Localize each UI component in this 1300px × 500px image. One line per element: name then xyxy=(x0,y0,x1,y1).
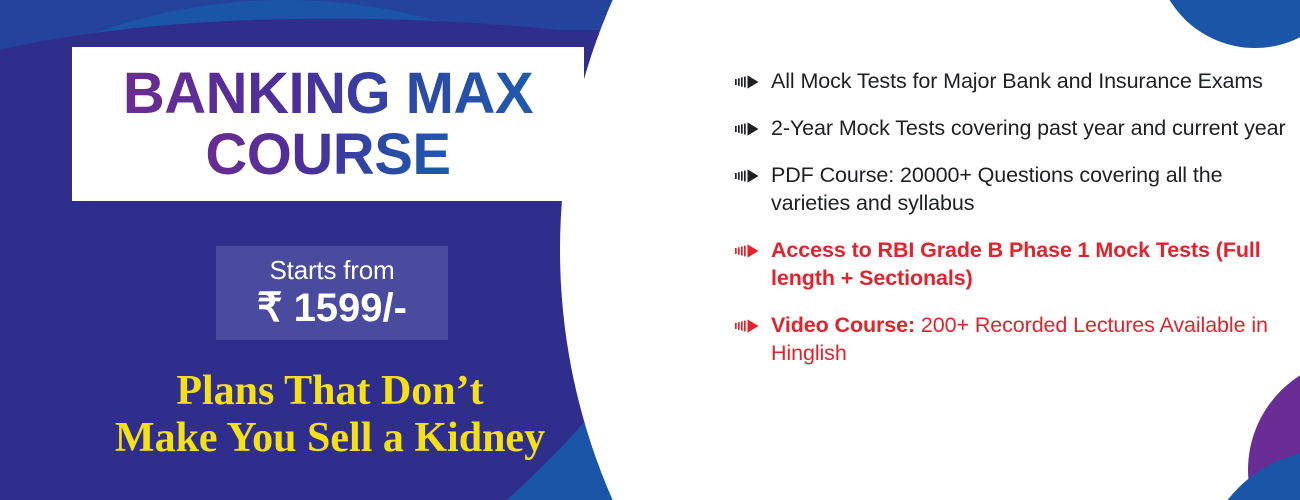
feature-item: PDF Course: 20000+ Questions covering al… xyxy=(735,162,1290,218)
feature-text-lead: Video Course: xyxy=(771,313,915,337)
left-content-column: BANKING MAX COURSE Starts from ₹ 1599/- … xyxy=(0,0,660,500)
promotional-banner: BANKING MAX COURSE Starts from ₹ 1599/- … xyxy=(0,0,1300,500)
feature-text: PDF Course: 20000+ Questions covering al… xyxy=(771,162,1290,218)
price-card: Starts from ₹ 1599/- xyxy=(216,246,448,340)
feature-text: All Mock Tests for Major Bank and Insura… xyxy=(771,68,1263,96)
course-title-line-2: COURSE xyxy=(205,125,450,184)
motion-arrow-icon xyxy=(735,168,761,184)
tagline-line-1: Plans That Don’t xyxy=(0,368,660,415)
tagline-line-2: Make You Sell a Kidney xyxy=(0,415,660,462)
feature-item: 2-Year Mock Tests covering past year and… xyxy=(735,115,1290,143)
feature-list: All Mock Tests for Major Bank and Insura… xyxy=(735,68,1290,368)
price-label: Starts from xyxy=(270,257,395,284)
price-value: ₹ 1599/- xyxy=(257,287,407,329)
motion-arrow-icon xyxy=(735,318,761,334)
feature-item: All Mock Tests for Major Bank and Insura… xyxy=(735,68,1290,96)
feature-item-highlighted: Access to RBI Grade B Phase 1 Mock Tests… xyxy=(735,237,1290,293)
tagline: Plans That Don’t Make You Sell a Kidney xyxy=(0,368,660,462)
feature-text: Video Course: 200+ Recorded Lectures Ava… xyxy=(771,312,1290,368)
feature-item-highlighted: Video Course: 200+ Recorded Lectures Ava… xyxy=(735,312,1290,368)
feature-text: 2-Year Mock Tests covering past year and… xyxy=(771,115,1286,143)
motion-arrow-icon xyxy=(735,243,761,259)
feature-text: Access to RBI Grade B Phase 1 Mock Tests… xyxy=(771,237,1290,293)
course-title-line-1: BANKING MAX xyxy=(123,64,533,123)
motion-arrow-icon xyxy=(735,121,761,137)
motion-arrow-icon xyxy=(735,74,761,90)
course-title-card: BANKING MAX COURSE xyxy=(72,47,584,201)
